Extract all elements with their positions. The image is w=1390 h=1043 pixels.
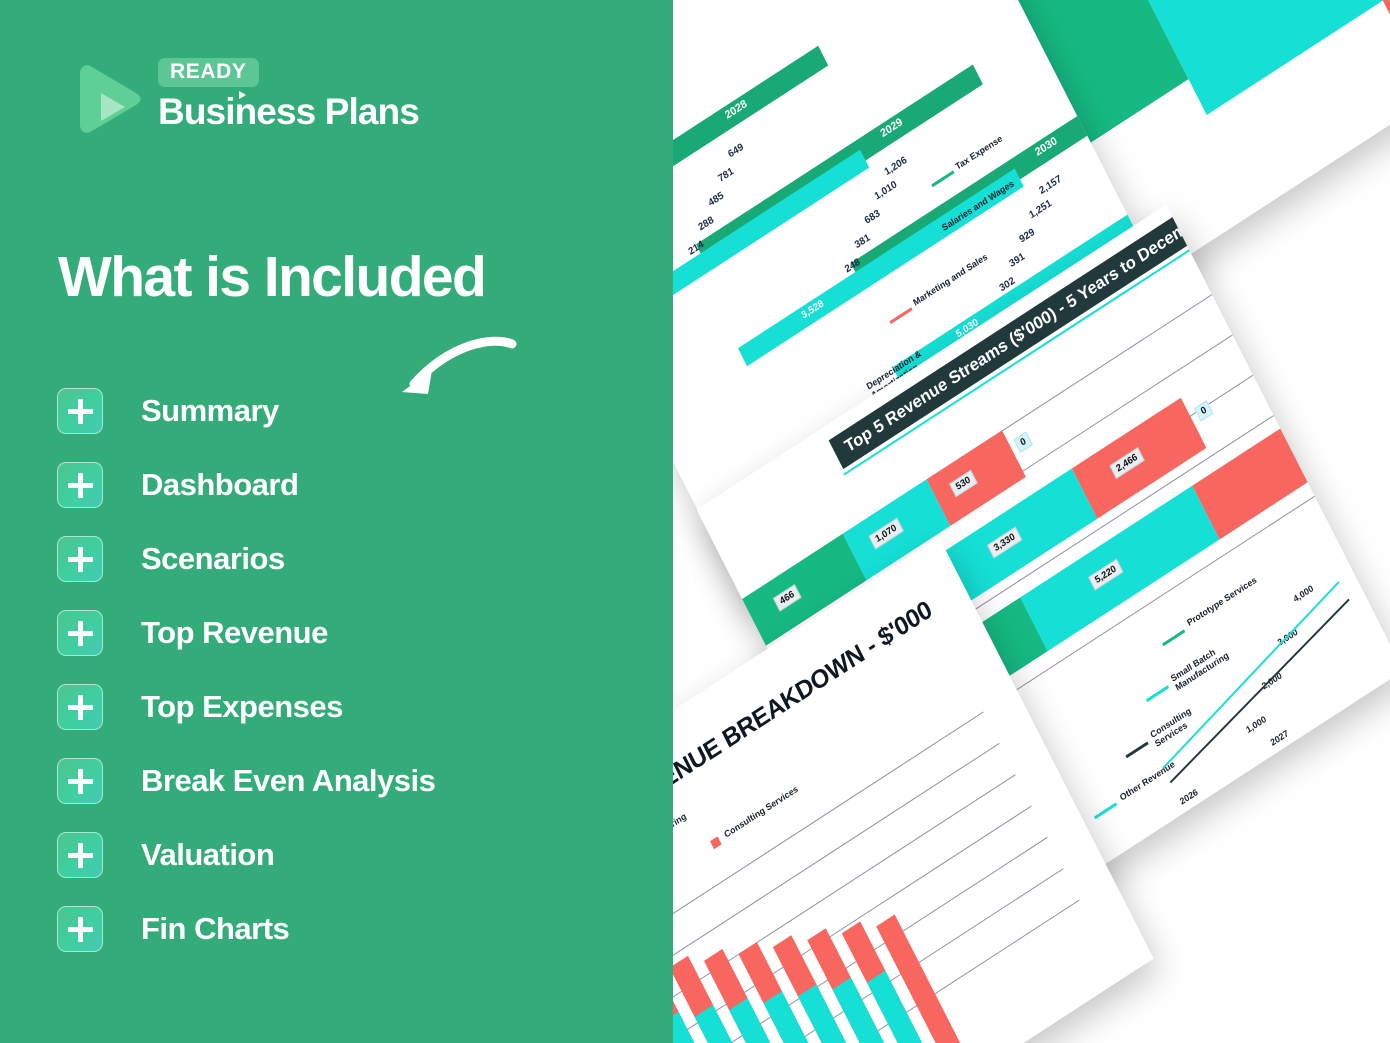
cell-value: 1,251 — [1028, 198, 1054, 221]
cell-value: 288 — [697, 215, 716, 234]
axis-tick: 1,000 — [1244, 714, 1267, 735]
cell-value: 2,157 — [1038, 173, 1064, 196]
cell-value: 391 — [1008, 251, 1027, 270]
play-dot-icon — [239, 91, 246, 99]
legend-tax-expense: Tax Expense — [954, 133, 1004, 172]
feature-label: Summary — [141, 393, 279, 429]
play-triangle-icon — [70, 63, 143, 135]
plus-icon — [57, 388, 103, 434]
feature-label: Valuation — [141, 837, 274, 873]
cell-value: 781 — [717, 166, 736, 185]
cell-value: 1,010 — [873, 179, 899, 202]
legend-consulting-services-2: Consulting Services — [723, 784, 800, 840]
feature-label: Dashboard — [141, 467, 298, 503]
feature-label: Break Even Analysis — [141, 763, 435, 799]
feature-item-fin-charts[interactable]: Fin Charts — [57, 906, 657, 952]
left-green-panel: READY Business Plans What is Included Su… — [0, 0, 673, 1043]
cell-value: 485 — [707, 190, 726, 209]
plus-icon — [57, 610, 103, 656]
plus-icon — [57, 462, 103, 508]
page-title: What is Included — [58, 248, 618, 308]
feature-label: Top Revenue — [141, 615, 328, 651]
plus-icon — [57, 536, 103, 582]
feature-item-valuation[interactable]: Valuation — [57, 832, 657, 878]
cell-value: 649 — [727, 142, 746, 161]
cell-value: 929 — [1018, 227, 1037, 246]
poster-canvas: Business Name Table of Contents 128.9 20… — [0, 0, 1390, 1043]
cell-value: 381 — [853, 232, 872, 251]
brand-text: READY Business Plans — [158, 58, 419, 132]
brand-logo[interactable]: READY Business Plans — [70, 58, 490, 148]
line-axis-year-2027: 2027 — [1269, 728, 1290, 748]
plus-icon — [57, 906, 103, 952]
plus-icon — [57, 832, 103, 878]
plus-icon — [57, 758, 103, 804]
ready-badge: READY — [158, 58, 259, 87]
feature-item-top-expenses[interactable]: Top Expenses — [57, 684, 657, 730]
feature-item-dashboard[interactable]: Dashboard — [57, 462, 657, 508]
feature-label: Top Expenses — [141, 689, 343, 725]
line-axis-year-2026: 2026 — [1178, 787, 1199, 807]
features-list: Summary Dashboard Scenarios Top Revenue … — [57, 388, 657, 980]
plus-icon — [57, 684, 103, 730]
cell-value: 1,206 — [883, 155, 909, 178]
feature-item-scenarios[interactable]: Scenarios — [57, 536, 657, 582]
brand-name: Business Plans — [158, 93, 419, 132]
legend-marketing: Marketing and Sales — [911, 250, 991, 308]
brand-name-text: Business Plans — [158, 91, 419, 132]
feature-item-break-even-analysis[interactable]: Break Even Analysis — [57, 758, 657, 804]
feature-item-top-revenue[interactable]: Top Revenue — [57, 610, 657, 656]
legend-other-revenue: Other Revenue — [1118, 759, 1176, 803]
feature-label: Scenarios — [141, 541, 285, 577]
legend-prototype-services: Prototype Services — [1185, 572, 1262, 628]
spreadsheet-collage: Business Name Table of Contents 128.9 20… — [660, 0, 1390, 1043]
revenue-breakdown-title: REVENUE BREAKDOWN - $'000 — [660, 595, 937, 822]
feature-item-summary[interactable]: Summary — [57, 388, 657, 434]
bar-label: 0 — [1014, 431, 1034, 453]
cell-value: 683 — [863, 208, 882, 227]
feature-label: Fin Charts — [141, 911, 289, 947]
axis-tick: 4,000 — [1292, 583, 1315, 604]
